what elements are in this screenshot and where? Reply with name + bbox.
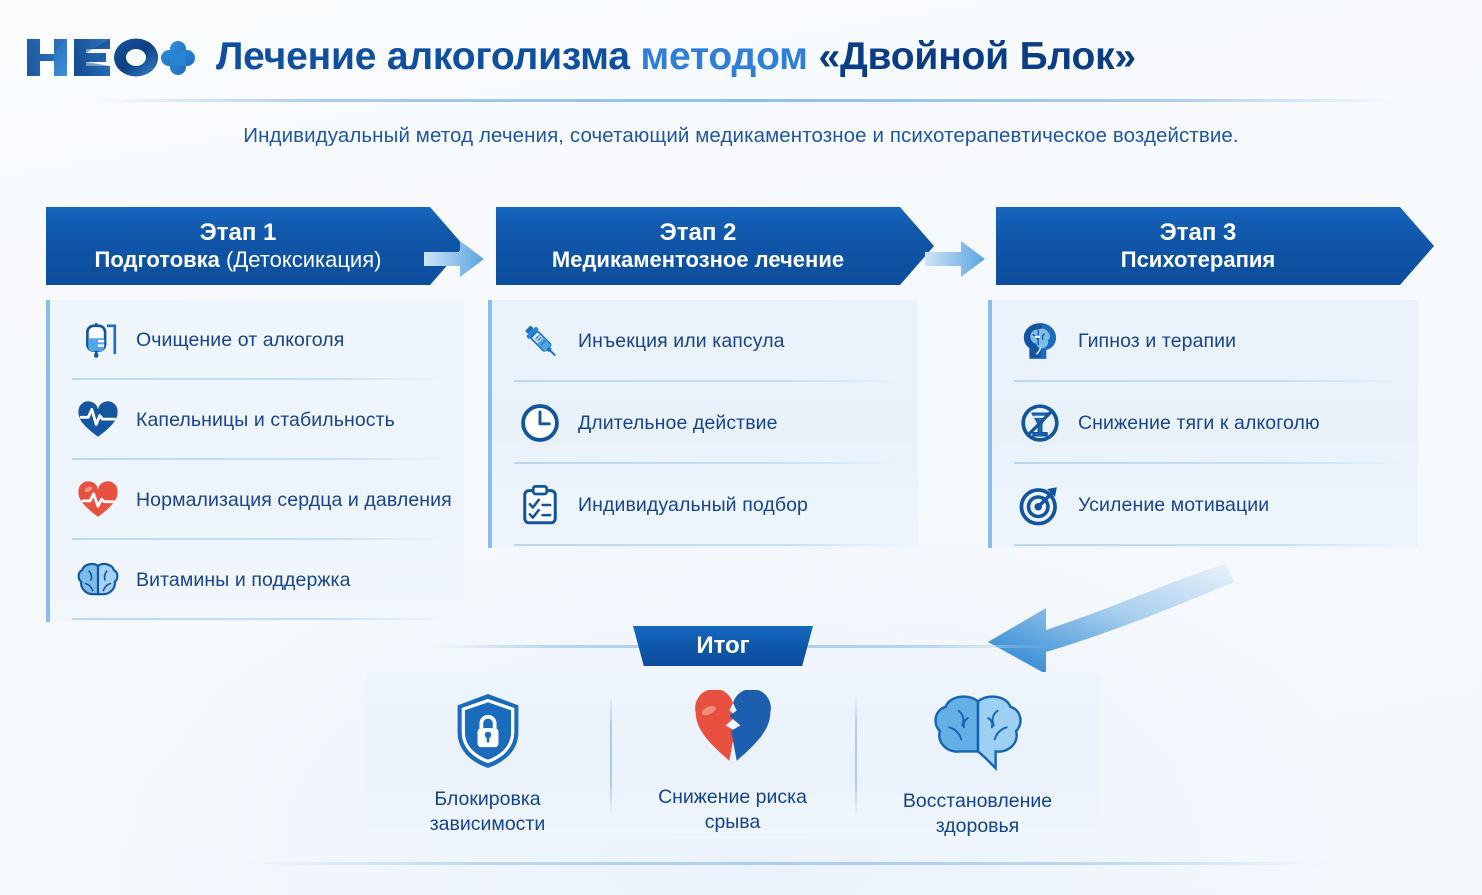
result-card: Блокировка зависимости bbox=[365, 672, 610, 839]
title-part-1: Лечение алкоголизма bbox=[216, 35, 630, 78]
stage-panel-2: Инъекция или капсула Длительное действие bbox=[488, 300, 918, 548]
stage-header-3: Этап 3 Психотерапия bbox=[996, 207, 1434, 285]
stage-name-3: Психотерапия bbox=[1121, 246, 1275, 273]
result-card: Снижение риска срыва bbox=[610, 672, 855, 839]
no-alcohol-glass-icon bbox=[1014, 397, 1066, 449]
stage-connector-arrow-1 bbox=[424, 239, 486, 279]
broken-heart-icon bbox=[688, 690, 778, 775]
stage-name-bold-2: Медикаментозное лечение bbox=[552, 247, 844, 272]
feature-label: Очищение от алкоголя bbox=[136, 329, 344, 352]
flow-return-arrow bbox=[968, 548, 1268, 678]
feature-label: Капельницы и стабильность bbox=[136, 409, 395, 432]
feature-label: Усиление мотивации bbox=[1078, 494, 1269, 517]
clipboard-checklist-icon bbox=[514, 479, 566, 531]
result-card-caption: Снижение риска срыва bbox=[658, 785, 807, 835]
result-card-line2: срыва bbox=[658, 810, 807, 835]
shield-lock-icon bbox=[450, 690, 526, 777]
feature-row: Длительное действие bbox=[492, 382, 918, 464]
result-card: Восстановление здоровья bbox=[855, 672, 1100, 839]
heart-pulse-red-icon bbox=[72, 474, 124, 526]
stage-name-2: Медикаментозное лечение bbox=[552, 246, 844, 273]
result-panel: Блокировка зависимости Снижение риска ср… bbox=[365, 672, 1100, 839]
stage-connector-arrow-2 bbox=[925, 239, 987, 279]
feature-row: Индивидуальный подбор bbox=[492, 464, 918, 546]
heart-pulse-blue-icon bbox=[72, 394, 124, 446]
target-arrow-icon bbox=[1014, 479, 1066, 531]
brain-icon bbox=[72, 554, 124, 606]
iv-drip-icon bbox=[72, 314, 124, 366]
result-card-caption: Блокировка зависимости bbox=[430, 787, 546, 837]
result-card-caption: Восстановление здоровья bbox=[903, 789, 1052, 839]
feature-label: Витамины и поддержка bbox=[136, 569, 351, 592]
feature-label: Индивидуальный подбор bbox=[578, 494, 808, 517]
stage-header-1: Этап 1 Подготовка (Детоксикация) bbox=[46, 207, 464, 285]
clock-icon bbox=[514, 397, 566, 449]
stage-name-light-1: (Детоксикация) bbox=[220, 247, 382, 272]
feature-row: Капельницы и стабильность bbox=[50, 380, 464, 460]
stage-number-1: Этап 1 bbox=[200, 219, 277, 246]
brain-recovery-icon bbox=[927, 690, 1029, 779]
feature-label: Инъекция или капсула bbox=[578, 330, 785, 353]
feature-label: Длительное действие bbox=[578, 412, 778, 435]
page-header: Лечение алкоголизма методом «Двойной Бло… bbox=[0, 0, 1482, 102]
footer-divider bbox=[240, 862, 1330, 865]
header-divider bbox=[90, 99, 1400, 102]
neo-plus-logo bbox=[24, 33, 204, 81]
feature-row: Гипноз и терапии bbox=[992, 300, 1418, 382]
result-card-line1: Восстановление bbox=[903, 789, 1052, 814]
stage-name-bold-3: Психотерапия bbox=[1121, 247, 1275, 272]
result-card-line1: Блокировка bbox=[430, 787, 546, 812]
feature-row: Витамины и поддержка bbox=[50, 540, 464, 620]
feature-row: Нормализация сердца и давления bbox=[50, 460, 464, 540]
stage-number-2: Этап 2 bbox=[660, 219, 737, 246]
result-banner: Итог bbox=[633, 626, 813, 666]
title-part-3: «Двойной Блок» bbox=[818, 35, 1135, 78]
feature-row: Снижение тяги к алкоголю bbox=[992, 382, 1418, 464]
result-card-line2: здоровья bbox=[903, 814, 1052, 839]
feature-label: Нормализация сердца и давления bbox=[136, 489, 452, 512]
feature-row: Инъекция или капсула bbox=[492, 300, 918, 382]
stage-name-bold-1: Подготовка bbox=[95, 247, 220, 272]
syringe-icon bbox=[514, 315, 566, 367]
feature-row: Очищение от алкоголя bbox=[50, 300, 464, 380]
stage-number-3: Этап 3 bbox=[1160, 219, 1237, 246]
stage-name-1: Подготовка (Детоксикация) bbox=[95, 246, 382, 273]
title-part-2: методом bbox=[640, 35, 807, 78]
head-brain-icon bbox=[1014, 315, 1066, 367]
stage-panel-1: Очищение от алкоголя Капельницы и стабил… bbox=[46, 300, 464, 622]
stage-header-2: Этап 2 Медикаментозное лечение bbox=[496, 207, 934, 285]
feature-label: Гипноз и терапии bbox=[1078, 330, 1236, 353]
result-card-line2: зависимости bbox=[430, 812, 546, 837]
stage-panel-3: Гипноз и терапии Снижение тяги к алкогол… bbox=[988, 300, 1418, 548]
feature-row: Усиление мотивации bbox=[992, 464, 1418, 546]
page-title: Лечение алкоголизма методом «Двойной Бло… bbox=[216, 34, 1136, 80]
page-subtitle: Индивидуальный метод лечения, сочетающий… bbox=[0, 124, 1482, 148]
result-card-line1: Снижение риска bbox=[658, 785, 807, 810]
feature-label: Снижение тяги к алкоголю bbox=[1078, 412, 1320, 435]
